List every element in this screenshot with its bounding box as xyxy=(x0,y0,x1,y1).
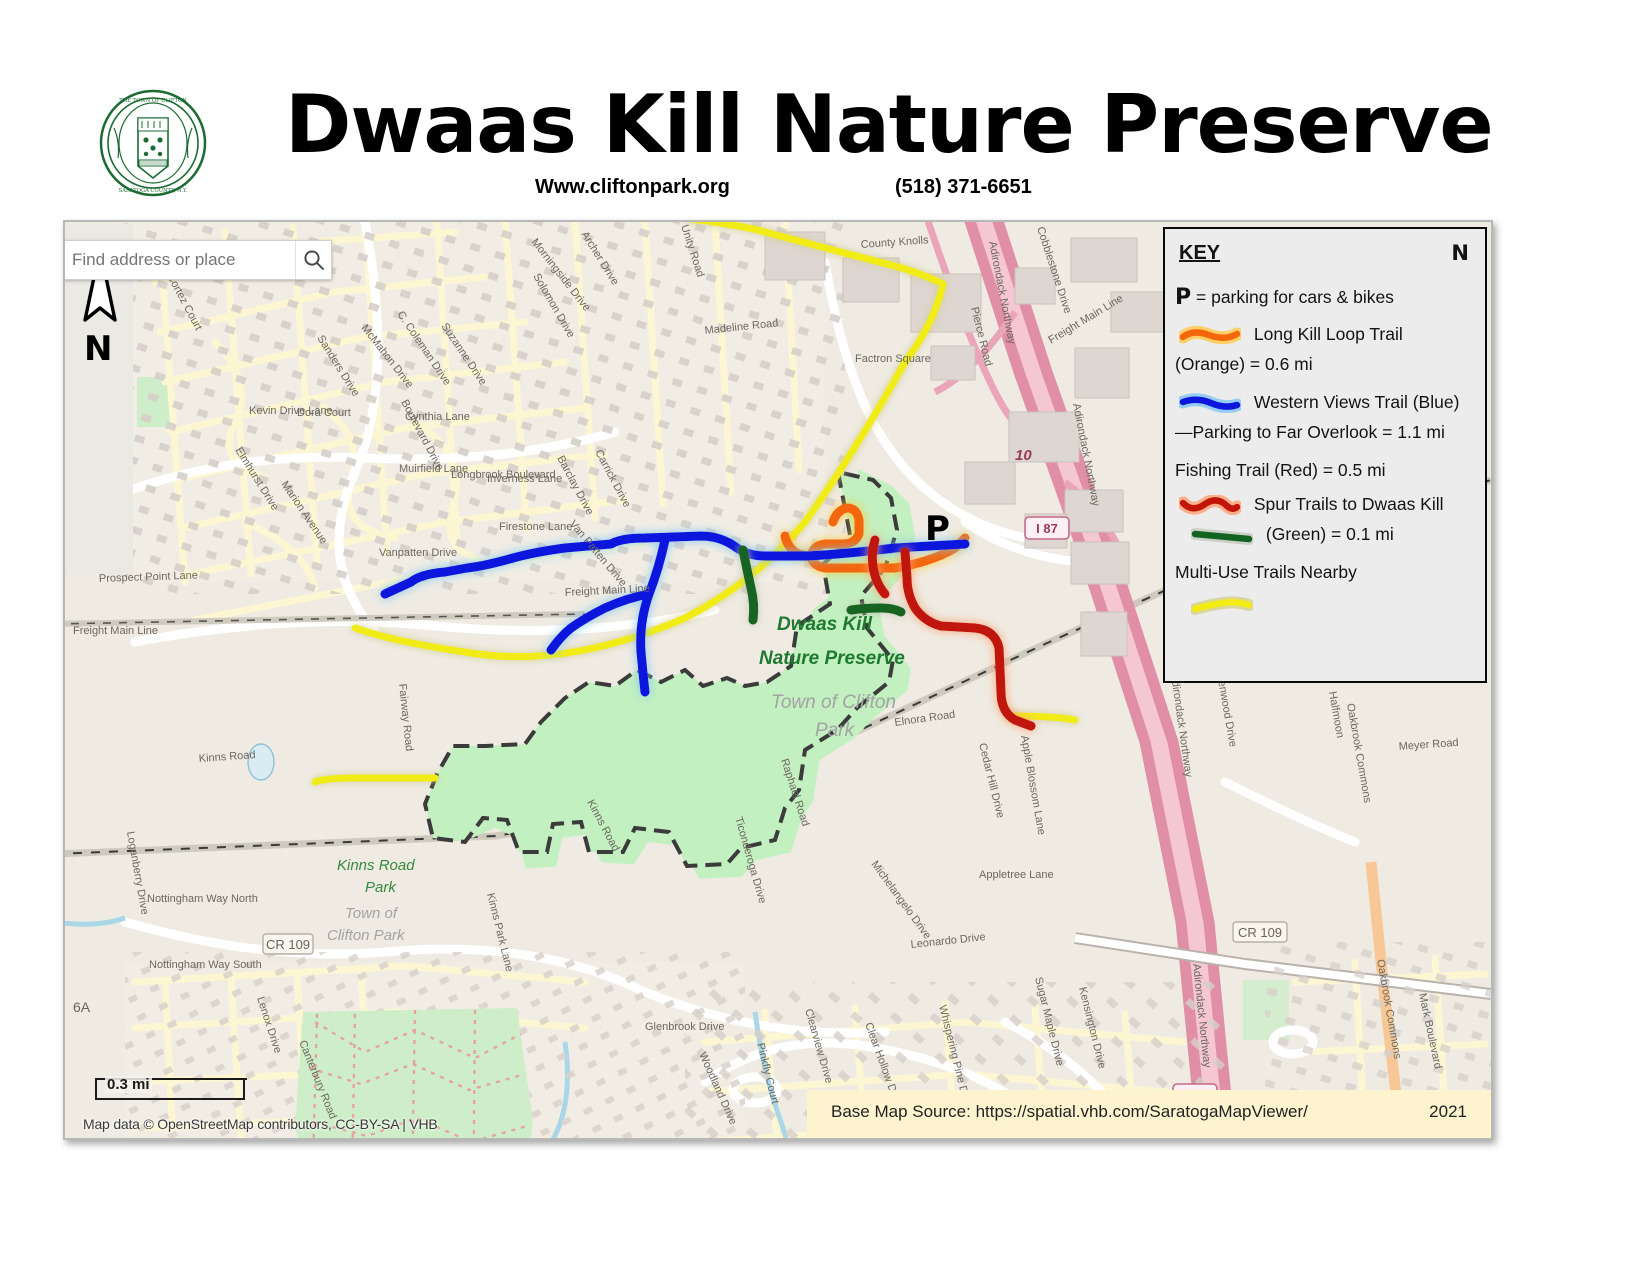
search-button[interactable] xyxy=(295,241,331,279)
key-item-parking-label: = parking for cars & bikes xyxy=(1196,287,1394,307)
orange-trail-swatch-icon xyxy=(1179,325,1241,345)
svg-text:Clifton Park: Clifton Park xyxy=(327,927,406,944)
map-attribution: Map data © OpenStreetMap contributors, C… xyxy=(83,1116,438,1132)
map-poster: THE TOWN OF CLIFTON SARATOGA COUNTY, N.Y… xyxy=(0,0,1650,1275)
svg-text:Park: Park xyxy=(815,720,856,741)
key-item-long-kill-loop-distance: (Orange) = 0.6 mi xyxy=(1175,354,1481,380)
key-item-fishing-trail-label: Fishing Trail (Red) = 0.5 mi xyxy=(1175,460,1386,480)
key-item-western-views-distance: —Parking to Far Overlook = 1.1 mi xyxy=(1175,422,1481,448)
source-bar: Base Map Source: https://spatial.vhb.com… xyxy=(807,1090,1491,1138)
svg-text:Inverness Lane: Inverness Lane xyxy=(487,473,562,485)
svg-text:Vanpatten Drive: Vanpatten Drive xyxy=(379,547,457,559)
search-box[interactable] xyxy=(63,240,332,280)
key-item-long-kill-loop: Long Kill Loop Trail xyxy=(1175,324,1481,350)
search-icon xyxy=(303,249,325,271)
svg-text:Glenbrook Drive: Glenbrook Drive xyxy=(645,1021,724,1033)
map-key-panel: KEY N P = parking for cars & bikes xyxy=(1163,227,1487,683)
key-item-western-views-distance-label: —Parking to Far Overlook = 1.1 mi xyxy=(1175,422,1445,442)
svg-text:Appletree Lane: Appletree Lane xyxy=(979,869,1054,881)
key-item-long-kill-loop-label: Long Kill Loop Trail xyxy=(1254,324,1403,344)
key-item-multi-use-swatch-row xyxy=(1175,594,1481,620)
key-item-parking: P = parking for cars & bikes xyxy=(1175,285,1481,312)
header-contact: Www.cliftonpark.org (518) 371-6651 xyxy=(535,176,1235,204)
svg-text:Nature Preserve: Nature Preserve xyxy=(759,648,905,669)
scale-bar-label: 0.3 mi xyxy=(105,1076,152,1093)
north-label: N xyxy=(84,329,112,369)
svg-text:Nottingham Way North: Nottingham Way North xyxy=(147,893,258,905)
svg-text:10: 10 xyxy=(1015,447,1032,464)
key-north-label: N xyxy=(1451,241,1469,267)
yellow-trail-swatch-icon xyxy=(1191,595,1253,615)
key-item-western-views-label: Western Views Trail (Blue) xyxy=(1254,392,1460,412)
svg-text:CR 109: CR 109 xyxy=(266,937,310,952)
search-input[interactable] xyxy=(63,241,295,279)
svg-text:6A: 6A xyxy=(73,999,91,1015)
key-item-spur-trails: Spur Trails to Dwaas Kill xyxy=(1175,494,1481,520)
svg-text:Town of: Town of xyxy=(345,905,399,922)
key-item-multi-use: Multi-Use Trails Nearby xyxy=(1175,562,1481,588)
key-item-long-kill-loop-distance-label: (Orange) = 0.6 mi xyxy=(1175,354,1313,374)
green-trail-swatch-icon xyxy=(1191,525,1253,545)
key-item-multi-use-label: Multi-Use Trails Nearby xyxy=(1175,562,1357,582)
svg-text:Park: Park xyxy=(365,879,397,896)
key-item-fishing-trail: Fishing Trail (Red) = 0.5 mi xyxy=(1175,460,1481,486)
phone-text: (518) 371-6651 xyxy=(895,176,1032,199)
svg-text:Firestone Lane: Firestone Lane xyxy=(499,521,572,533)
svg-text:Cynthia Lane: Cynthia Lane xyxy=(405,411,470,423)
key-item-green-spur-label: (Green) = 0.1 mi xyxy=(1266,524,1394,544)
website-text: Www.cliftonpark.org xyxy=(535,176,730,199)
key-item-spur-trails-label: Spur Trails to Dwaas Kill xyxy=(1254,494,1444,514)
key-item-western-views: Western Views Trail (Blue) xyxy=(1175,392,1481,418)
base-map-source-text: Base Map Source: https://spatial.vhb.com… xyxy=(831,1102,1308,1122)
poster-header: THE TOWN OF CLIFTON SARATOGA COUNTY, N.Y… xyxy=(0,0,1650,218)
svg-text:Town of Clifton: Town of Clifton xyxy=(771,692,896,713)
key-title: KEY xyxy=(1179,241,1220,265)
parking-marker: P xyxy=(925,509,950,549)
key-item-green-spur: (Green) = 0.1 mi xyxy=(1175,524,1481,550)
svg-text:Kinns Road: Kinns Road xyxy=(337,857,415,874)
red-trail-swatch-icon xyxy=(1179,495,1241,515)
parking-symbol: P xyxy=(1175,285,1191,310)
scale-bar: 0.3 mi xyxy=(95,1078,245,1100)
svg-text:THE TOWN OF CLIFTON: THE TOWN OF CLIFTON xyxy=(119,98,187,104)
blue-trail-swatch-icon xyxy=(1179,393,1241,413)
map-year: 2021 xyxy=(1429,1102,1467,1122)
town-seal-logo: THE TOWN OF CLIFTON SARATOGA COUNTY, N.Y… xyxy=(98,88,208,198)
map-frame[interactable]: P I 87 I 87 CR 109 xyxy=(63,220,1493,1140)
svg-text:Dwaas Kill: Dwaas Kill xyxy=(777,614,873,635)
svg-text:Nottingham Way South: Nottingham Way South xyxy=(149,959,262,971)
page-title: Dwaas Kill Nature Preserve xyxy=(285,85,1385,165)
svg-text:I 87: I 87 xyxy=(1036,521,1058,536)
key-items-list: P = parking for cars & bikes Long Kill L… xyxy=(1175,285,1481,624)
svg-text:Freight Main Line: Freight Main Line xyxy=(73,625,158,637)
svg-text:Factron Square: Factron Square xyxy=(855,353,931,365)
svg-text:SARATOGA COUNTY, N.Y.: SARATOGA COUNTY, N.Y. xyxy=(119,188,188,194)
svg-text:CR 109: CR 109 xyxy=(1238,925,1282,940)
svg-text:Kevin Drive Lane: Kevin Drive Lane xyxy=(249,405,333,417)
